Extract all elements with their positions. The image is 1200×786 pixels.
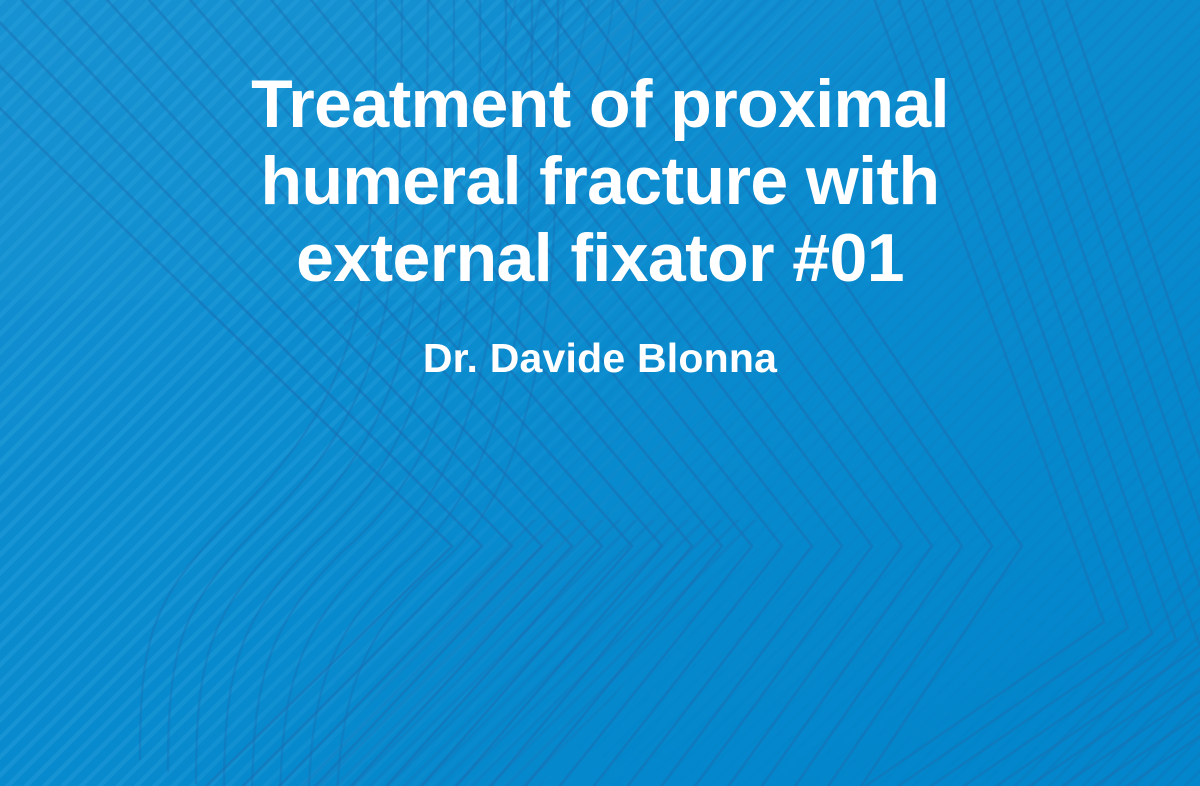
page-title-line-1: Treatment of proximal bbox=[0, 0, 1200, 143]
page-title-line-2: humeral fracture with bbox=[0, 143, 1200, 220]
slide-text-block: Treatment of proximal humeral fracture w… bbox=[0, 0, 1200, 381]
presenter-name: Dr. Davide Blonna bbox=[0, 297, 1200, 381]
title-slide: Treatment of proximal humeral fracture w… bbox=[0, 0, 1200, 786]
page-title-line-3: external fixator #01 bbox=[0, 220, 1200, 297]
page-title: Treatment of proximal humeral fracture w… bbox=[0, 0, 1200, 297]
